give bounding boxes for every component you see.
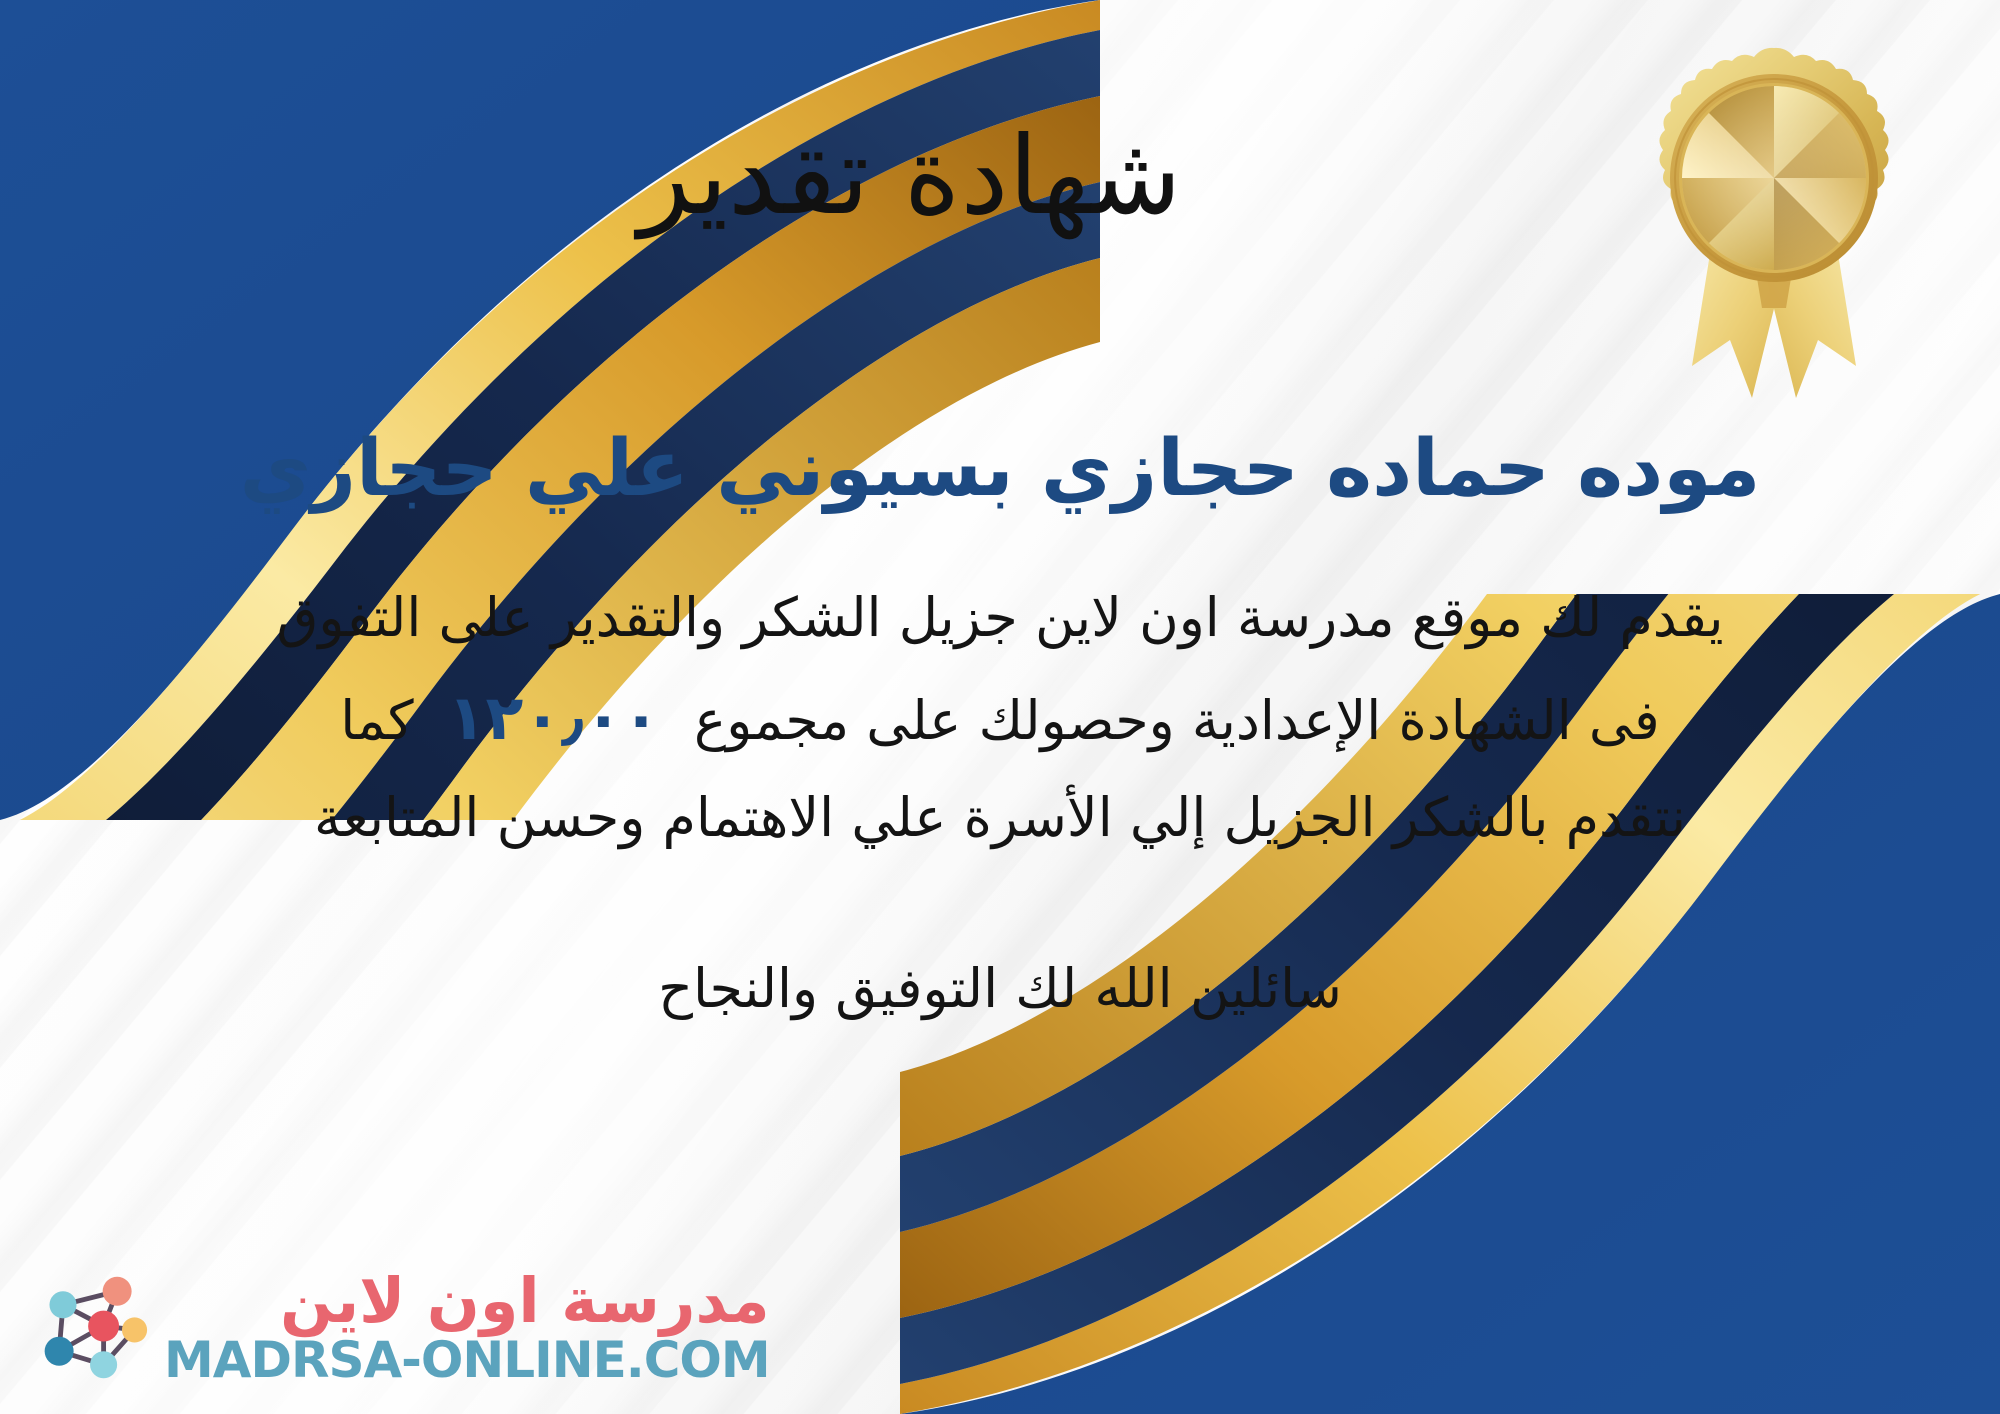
body-line-2-prefix: فى الشهادة الإعدادية وحصولك على مجموع xyxy=(694,689,1660,752)
certificate-body: يقدم لك موقع مدرسة اون لاين جزيل الشكر و… xyxy=(100,572,1900,864)
logo-text-block: مدرسة اون لاين MADRSA-ONLINE.COM xyxy=(164,1268,770,1388)
recipient-name: موده حماده حجازي بسيوني علي حجازي xyxy=(150,421,1850,519)
body-line-3: نتقدم بالشكر الجزيل إلي الأسرة علي الاهت… xyxy=(100,772,1900,865)
certificate-canvas: شهادة تقدير موده حماده حجازي بسيوني علي … xyxy=(0,0,2000,1414)
logo-arabic-name: مدرسة اون لاين xyxy=(280,1268,770,1333)
body-line-1: يقدم لك موقع مدرسة اون لاين جزيل الشكر و… xyxy=(100,572,1900,665)
body-line-2: فى الشهادة الإعدادية وحصولك على مجموع١٢٠… xyxy=(100,665,1900,772)
network-nodes-icon xyxy=(34,1270,150,1386)
logo-website-url: MADRSA-ONLINE.COM xyxy=(164,1333,770,1388)
site-logo[interactable]: مدرسة اون لاين MADRSA-ONLINE.COM xyxy=(34,1268,770,1388)
body-line-2-suffix: كما xyxy=(340,689,413,752)
closing-wish-line: سائلين الله لك التوفيق والنجاح xyxy=(100,957,1900,1020)
total-score-value: ١٢٠٫٠٠ xyxy=(414,681,694,754)
gold-award-medal-icon xyxy=(1634,36,1914,406)
